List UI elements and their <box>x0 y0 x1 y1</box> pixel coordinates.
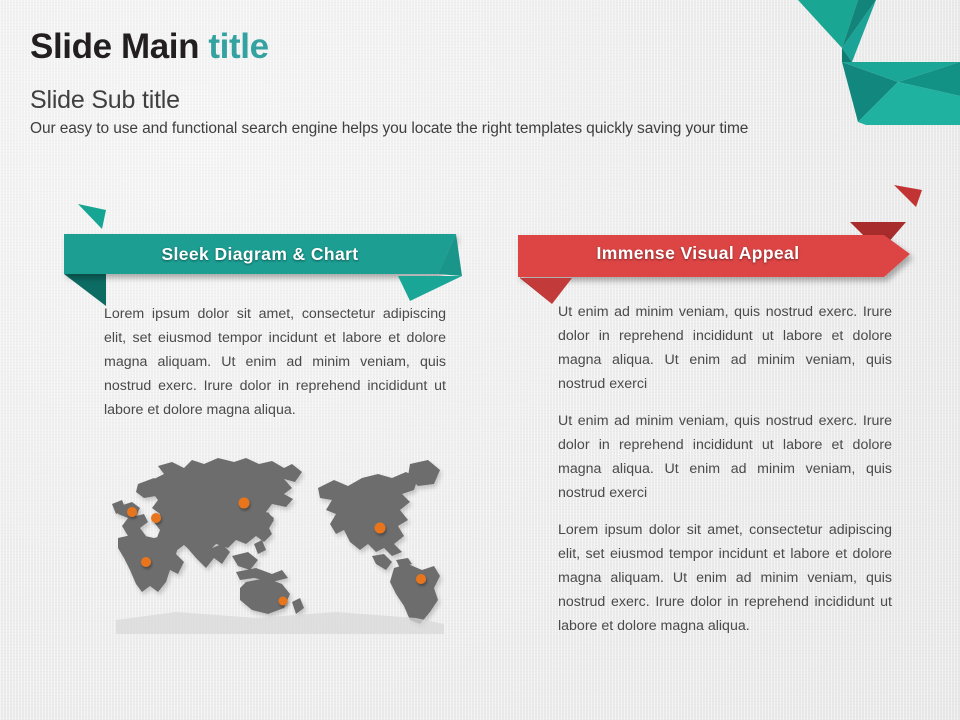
landmass-southeast-asia <box>232 552 258 570</box>
teal-triangle-left-icon <box>78 204 106 229</box>
landmass-south-asia <box>184 542 230 568</box>
marker-north-america <box>375 523 386 534</box>
landmass-new-zealand <box>292 598 304 614</box>
right-banner-shape <box>506 180 926 305</box>
right-body-text: Ut enim ad minim veniam, quis nostrud ex… <box>558 300 892 638</box>
slide-canvas: Slide Main title Slide Sub title Our eas… <box>0 0 960 720</box>
right-banner-body <box>518 235 910 277</box>
red-triangle-left-icon <box>894 185 922 207</box>
right-paragraph-3: Lorem ipsum dolor sit amet, consectetur … <box>558 518 892 638</box>
left-banner-arrow <box>398 276 462 301</box>
right-banner[interactable]: Immense Visual Appeal <box>506 180 926 305</box>
landmass-central-america <box>372 554 392 570</box>
marker-south-america <box>416 574 426 584</box>
page-title-prefix: Slide Main <box>30 27 208 66</box>
marker-australia <box>279 597 288 606</box>
landmass-philippines <box>254 540 266 554</box>
page-title-accent: title <box>208 27 268 66</box>
page-title: Slide Main title <box>30 27 269 67</box>
left-banner-fold <box>64 274 106 306</box>
landmass-africa <box>118 534 184 592</box>
world-map[interactable] <box>96 452 452 638</box>
left-body-text: Lorem ipsum dolor sit amet, consectetur … <box>104 302 446 422</box>
right-paragraph-2: Ut enim ad minim veniam, quis nostrud ex… <box>558 409 892 505</box>
left-paragraph-1: Lorem ipsum dolor sit amet, consectetur … <box>104 302 446 422</box>
landmass-south-america <box>390 564 440 624</box>
landmass-north-america <box>318 472 418 556</box>
marker-western-europe <box>127 507 137 517</box>
world-map-svg <box>96 452 452 638</box>
marker-west-africa <box>141 557 151 567</box>
corner-polygon-cluster-icon <box>780 0 960 125</box>
left-banner[interactable]: Sleek Diagram & Chart <box>62 196 482 306</box>
page-subtitle: Slide Sub title <box>30 86 180 115</box>
corner-decoration <box>780 0 960 125</box>
landmass-australia <box>240 578 290 614</box>
right-paragraph-1: Ut enim ad minim veniam, quis nostrud ex… <box>558 300 892 396</box>
left-banner-body <box>64 234 456 274</box>
map-landmasses <box>112 458 440 624</box>
landmass-antarctica <box>116 612 444 634</box>
left-banner-shape <box>62 196 482 306</box>
marker-north-asia <box>239 498 250 509</box>
marker-central-europe <box>151 513 161 523</box>
page-description: Our easy to use and functional search en… <box>30 120 748 138</box>
